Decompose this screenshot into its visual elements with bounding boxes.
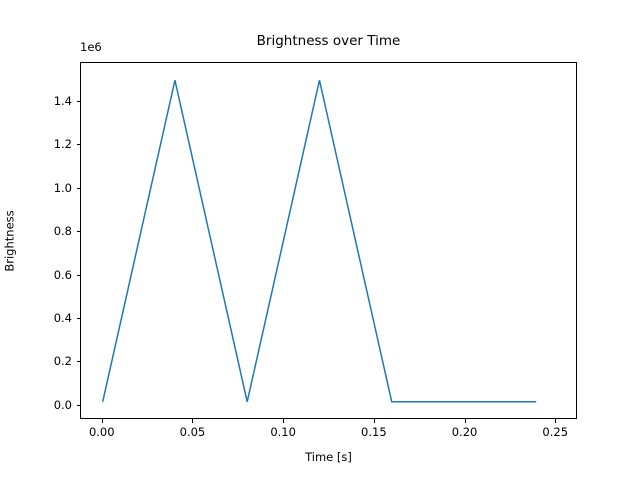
x-tick-label: 0.20 xyxy=(452,425,478,439)
x-tick-mark xyxy=(465,419,466,423)
y-tick-mark xyxy=(77,144,81,145)
y-tick-mark xyxy=(77,275,81,276)
y-tick-mark xyxy=(77,231,81,232)
y-tick-mark xyxy=(77,101,81,102)
y-tick-label: 0.4 xyxy=(54,311,72,325)
matplotlib-figure: Brightness over Time 1e6 0.000.050.100.1… xyxy=(0,0,640,480)
y-axis-offset-text: 1e6 xyxy=(80,40,102,54)
x-tick-label: 0.10 xyxy=(270,425,296,439)
y-axis-label-text: Brightness xyxy=(3,210,17,271)
y-tick-label: 0.6 xyxy=(54,268,72,282)
x-tick-mark xyxy=(555,419,556,423)
y-axis-label: Brightness xyxy=(0,62,20,419)
y-tick-label: 1.0 xyxy=(54,181,72,195)
x-tick-mark xyxy=(374,419,375,423)
y-tick-label: 0.2 xyxy=(54,354,72,368)
plot-axes xyxy=(80,62,577,419)
y-tick-label: 0.8 xyxy=(54,224,72,238)
brightness-line xyxy=(103,80,537,402)
x-axis-label: Time [s] xyxy=(80,450,577,464)
y-tick-mark xyxy=(77,318,81,319)
x-tick-label: 0.25 xyxy=(542,425,568,439)
x-tick-mark xyxy=(192,419,193,423)
x-tick-label: 0.05 xyxy=(180,425,206,439)
line-series-svg xyxy=(81,63,576,418)
y-tick-label: 0.0 xyxy=(54,398,72,412)
x-tick-label: 0.00 xyxy=(89,425,115,439)
x-tick-mark xyxy=(102,419,103,423)
y-tick-mark xyxy=(77,188,81,189)
y-tick-label: 1.4 xyxy=(54,94,72,108)
y-tick-label: 1.2 xyxy=(54,137,72,151)
y-tick-mark xyxy=(77,361,81,362)
y-tick-mark xyxy=(77,405,81,406)
page-title: Brightness over Time xyxy=(80,33,577,49)
x-tick-mark xyxy=(283,419,284,423)
x-tick-label: 0.15 xyxy=(361,425,387,439)
